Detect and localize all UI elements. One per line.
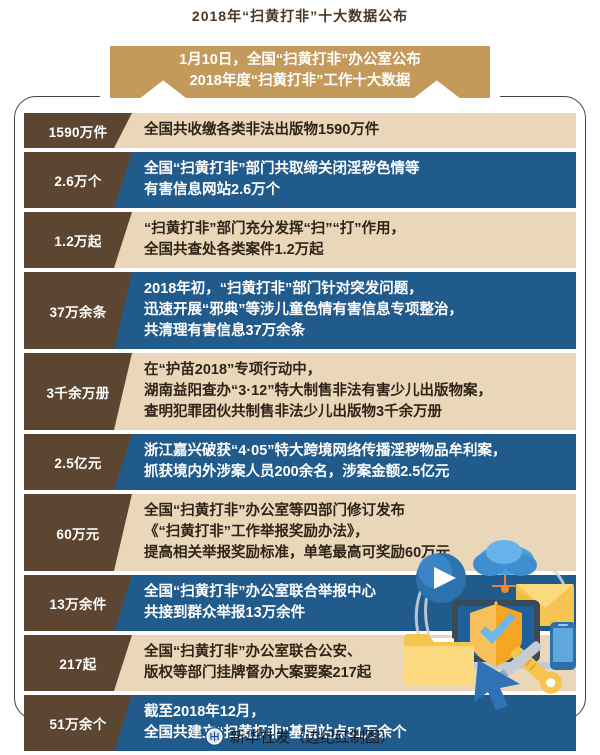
data-row: 1.2万起“扫黄打非”部门充分发挥“扫”“打”作用，全国共查处各类案件1.2万起 bbox=[24, 212, 576, 268]
data-row: 3千余万册在“护苗2018”专项行动中，湖南益阳查办“3·12”特大制售非法有害… bbox=[24, 353, 576, 430]
row-description-line: 全国共收缴各类非法出版物1590万件 bbox=[144, 120, 568, 141]
ribbon-line-1: 1月10日，全国“扫黄打非”办公室公布 bbox=[179, 50, 421, 71]
row-description-line: 在“护苗2018”专项行动中， bbox=[144, 360, 568, 381]
row-description-line: 有害信息网站2.6万个 bbox=[144, 180, 568, 201]
row-description-line: 版权等部门挂牌督办大案要案217起 bbox=[144, 663, 568, 684]
row-description: 在“护苗2018”专项行动中，湖南益阳查办“3·12”特大制售非法有害少儿出版物… bbox=[114, 353, 576, 430]
row-description-line: 全国“扫黄打非”办公室联合公安、 bbox=[144, 642, 568, 663]
row-stat-label: 1590万件 bbox=[24, 113, 132, 148]
row-description-line: 全国共查处各类案件1.2万起 bbox=[144, 240, 568, 261]
row-description-line: 迅速开展“邪典”等涉儿童色情有害信息专项整治， bbox=[144, 300, 568, 321]
row-description: 全国“扫黄打非”部门共取缔关闭淫秽色情等有害信息网站2.6万个 bbox=[114, 152, 576, 208]
ribbon-line-2: 2018年度“扫黄打非”工作十大数据 bbox=[190, 71, 411, 92]
row-description-line: 共接到群众举报13万余件 bbox=[144, 603, 568, 624]
data-row-list: 1590万件全国共收缴各类非法出版物1590万件2.6万个全国“扫黄打非”部门共… bbox=[24, 113, 576, 755]
row-description: 2018年初，“扫黄打非”部门针对突发问题，迅速开展“邪典”等涉儿童色情有害信息… bbox=[114, 272, 576, 349]
row-stat-label: 51万余个 bbox=[24, 695, 132, 751]
row-description-line: 抓获境内外涉案人员200余名，涉案金额2.5亿元 bbox=[144, 462, 568, 483]
infographic-page: 2018年“扫黄打非”十大数据公布 1月10日，全国“扫黄打非”办公室公布 20… bbox=[0, 0, 600, 755]
row-stat-label: 2.5亿元 bbox=[24, 434, 132, 490]
row-description-line: 提高相关举报奖励标准，单笔最高可奖励60万元 bbox=[144, 543, 568, 564]
row-stat-label: 2.6万个 bbox=[24, 152, 132, 208]
row-description-line: 《“扫黄打非”工作举报奖励办法》， bbox=[144, 522, 568, 543]
data-row: 2.6万个全国“扫黄打非”部门共取缔关闭淫秽色情等有害信息网站2.6万个 bbox=[24, 152, 576, 208]
data-row: 217起全国“扫黄打非”办公室联合公安、版权等部门挂牌督办大案要案217起 bbox=[24, 635, 576, 691]
row-description: “扫黄打非”部门充分发挥“扫”“打”作用，全国共查处各类案件1.2万起 bbox=[114, 212, 576, 268]
row-stat-label: 217起 bbox=[24, 635, 132, 691]
row-stat-label: 1.2万起 bbox=[24, 212, 132, 268]
row-description-line: 全国“扫黄打非”部门共取缔关闭淫秽色情等 bbox=[144, 159, 568, 180]
page-title: 2018年“扫黄打非”十大数据公布 bbox=[0, 6, 600, 26]
row-description-line: 截至2018年12月， bbox=[144, 702, 568, 723]
row-description-line: 查明犯罪团伙共制售非法少儿出版物3千余万册 bbox=[144, 402, 568, 423]
row-stat-label: 37万余条 bbox=[24, 272, 132, 349]
row-description-line: 湖南益阳查办“3·12”特大制售非法有害少儿出版物案， bbox=[144, 381, 568, 402]
row-stat-label: 13万余件 bbox=[24, 575, 132, 631]
row-description: 浙江嘉兴破获“4·05”特大跨境网络传播淫秽物品牟利案，抓获境内外涉案人员200… bbox=[114, 434, 576, 490]
footer-text: 新华社发（边纪红制图） bbox=[230, 726, 395, 747]
xinhua-logo-icon bbox=[205, 727, 224, 746]
row-description-line: 共清理有害信息37万余条 bbox=[144, 321, 568, 342]
row-description-line: “扫黄打非”部门充分发挥“扫”“打”作用， bbox=[144, 219, 568, 240]
row-description: 全国共收缴各类非法出版物1590万件 bbox=[114, 113, 576, 148]
row-description-line: 2018年初，“扫黄打非”部门针对突发问题， bbox=[144, 279, 568, 300]
row-description-line: 浙江嘉兴破获“4·05”特大跨境网络传播淫秽物品牟利案， bbox=[144, 441, 568, 462]
row-description: 全国“扫黄打非”办公室联合举报中心共接到群众举报13万余件 bbox=[114, 575, 576, 631]
row-stat-label: 3千余万册 bbox=[24, 353, 132, 430]
data-row: 37万余条2018年初，“扫黄打非”部门针对突发问题，迅速开展“邪典”等涉儿童色… bbox=[24, 272, 576, 349]
data-row: 1590万件全国共收缴各类非法出版物1590万件 bbox=[24, 113, 576, 148]
row-description: 全国“扫黄打非”办公室联合公安、版权等部门挂牌督办大案要案217起 bbox=[114, 635, 576, 691]
data-row: 60万元全国“扫黄打非”办公室等四部门修订发布《“扫黄打非”工作举报奖励办法》，… bbox=[24, 494, 576, 571]
data-row: 13万余件全国“扫黄打非”办公室联合举报中心共接到群众举报13万余件 bbox=[24, 575, 576, 631]
row-stat-label: 60万元 bbox=[24, 494, 132, 571]
data-row: 2.5亿元浙江嘉兴破获“4·05”特大跨境网络传播淫秽物品牟利案，抓获境内外涉案… bbox=[24, 434, 576, 490]
row-description-line: 全国“扫黄打非”办公室等四部门修订发布 bbox=[144, 501, 568, 522]
row-description: 全国“扫黄打非”办公室等四部门修订发布《“扫黄打非”工作举报奖励办法》，提高相关… bbox=[114, 494, 576, 571]
row-description-line: 全国“扫黄打非”办公室联合举报中心 bbox=[144, 582, 568, 603]
